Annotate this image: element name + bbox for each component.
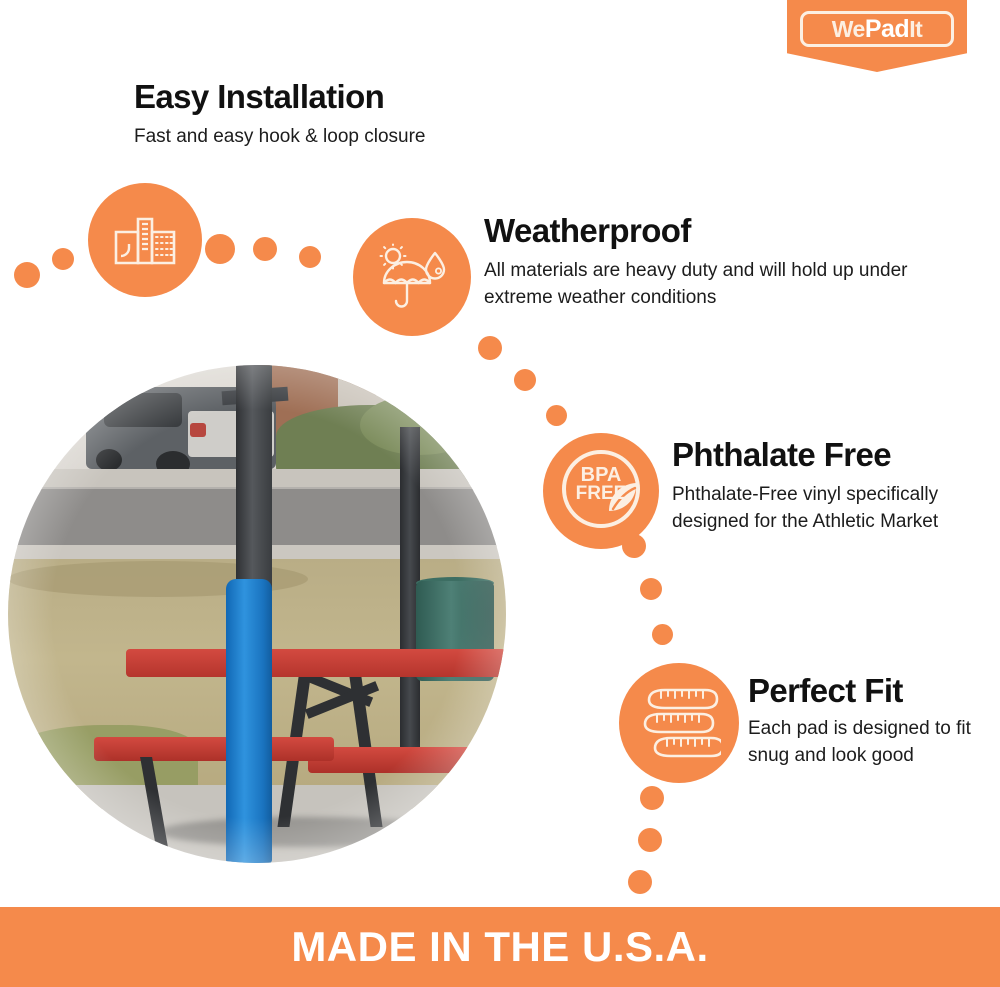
logo-wordmark: WePadIt [832,17,923,42]
trail-dot [14,262,40,288]
feature-icon-easy-installation [88,183,202,297]
feature-body-phthalate-free: Phthalate-Free vinyl specifically design… [672,482,942,536]
logo-text-we: We [832,16,865,42]
feature-body-easy-installation: Fast and easy hook & loop closure [134,124,554,151]
feature-icon-phthalate-free: BPA FREE [543,433,659,549]
feature-heading-weatherproof: Weatherproof [484,214,691,249]
feature-icon-weatherproof [353,218,471,336]
sun-umbrella-raindrop-icon [374,243,450,311]
brand-logo[interactable]: WePadIt [787,0,967,72]
trail-dot [299,246,321,268]
trail-dot [52,248,74,270]
trail-dot [640,578,662,600]
feature-body-weatherproof: All materials are heavy duty and will ho… [484,258,914,312]
logo-outline-box: WePadIt [800,11,954,47]
product-photo [8,365,506,863]
feature-heading-perfect-fit: Perfect Fit [748,674,903,709]
trail-dot [478,336,502,360]
trail-dot [514,369,536,391]
feature-icon-perfect-fit [619,663,739,783]
trail-dot [652,624,673,645]
logo-text-it: It [909,16,922,42]
building-icon [113,212,177,268]
feature-body-perfect-fit: Each pad is designed to fit snug and loo… [748,716,978,770]
made-in-usa-text: MADE IN THE U.S.A. [291,923,708,971]
trail-dot [628,870,652,894]
feature-heading-easy-installation: Easy Installation [134,80,384,115]
made-in-usa-banner: MADE IN THE U.S.A. [0,907,1000,987]
feature-heading-phthalate-free: Phthalate Free [672,438,891,473]
measuring-tape-icon [637,683,721,763]
trail-dot [640,786,664,810]
trail-dot [205,234,235,264]
logo-text-pad: Pad [865,15,909,43]
bpa-free-leaf-icon [543,433,659,549]
trail-dot [546,405,567,426]
trail-dot [253,237,277,261]
infographic-page: WePadIt Easy Installation Fast and easy … [0,0,1000,987]
trail-dot [638,828,662,852]
